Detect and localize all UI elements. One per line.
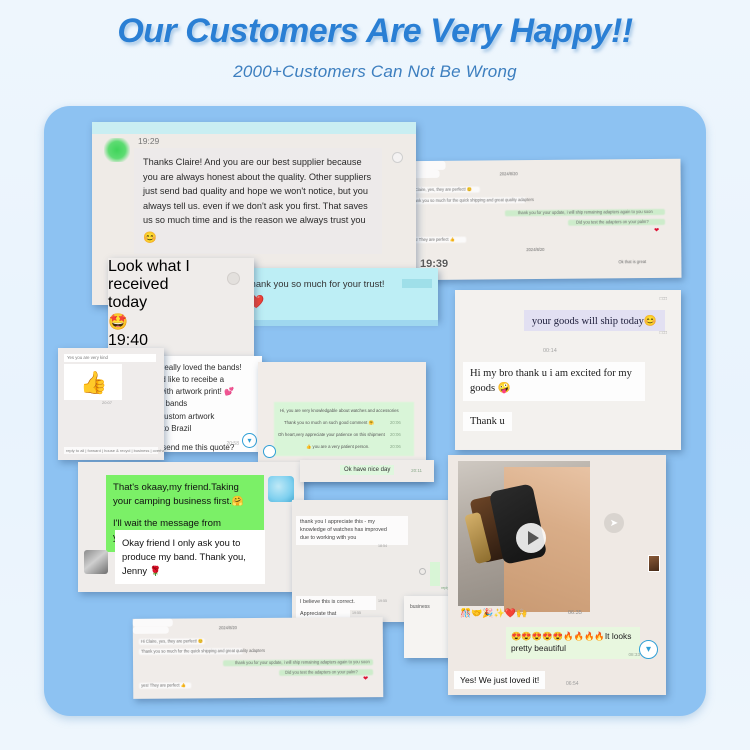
main-chat-bubble: Thanks Claire! And you are our best supp… [134, 148, 382, 254]
dup2-heart-icon: ❤ [363, 675, 368, 682]
watch-line-1: Hi, you are very knowledgable about watc… [280, 408, 399, 413]
green-compliment-line-2: pretty beautiful [511, 643, 566, 653]
duplicate-line-2: Thank you so much for the quick shipping… [410, 197, 534, 203]
duplicate-line-1: Hi Claire, yes, they are perfect! 😊 [410, 187, 472, 194]
chevron-down-badge-icon[interactable]: ▾ [242, 433, 257, 448]
nice-day-card[interactable]: Ok have nice day 20:11 [300, 460, 434, 482]
page-subtitle: 2000+Customers Can Not Be Wrong [0, 62, 750, 82]
duplicate-date-chip: 2024/8/20 [500, 171, 518, 176]
ship-thanks-bubble: Thank u [463, 412, 512, 431]
watch-time-2: 20:06 [390, 432, 401, 437]
circle-icon [419, 568, 426, 575]
green-line-2: camping business first.🤗 [134, 496, 244, 507]
message-status-icon [392, 152, 403, 163]
received-photo-card[interactable]: Look what I received today 🤩 19:40 [108, 258, 254, 356]
scroll-down-icon[interactable]: ▾ [639, 640, 658, 659]
dup2-line-5: yes! They are perfect 👍 [141, 683, 186, 689]
shipping-chat-card[interactable]: □:□ your goods will ship today😊 □:□ 00:1… [455, 290, 681, 450]
business-label: business [410, 604, 430, 610]
white-line-1: Okay friend I only ask you to [122, 537, 240, 548]
loved-it-bubble: Yes! We just loved it! [454, 671, 545, 689]
ship-reply-bubble: Hi my bro thank u i am excited for my go… [463, 362, 645, 401]
dup2-line-3: thank you for your update, i will ship r… [235, 659, 370, 665]
green-compliment-time: 08:33 [629, 652, 641, 657]
green-line-3: I'll wait the message from [113, 518, 221, 529]
dup2-date-chip: 2024/8/20 [219, 625, 237, 630]
thumbs-time: 20:07 [102, 400, 112, 405]
appreciation-time-2: 19:55 [378, 599, 387, 603]
video-time: 06:35 [568, 610, 582, 616]
watch-video-card[interactable]: ➤ 🎊🤝🎉✨❤️🙌 06:35 😍😍😍😍😍🔥🔥🔥🔥It looks pretty… [448, 455, 666, 695]
green-compliment-line-1: 😍😍😍😍😍🔥🔥🔥🔥It looks [511, 631, 631, 641]
green-avatar-icon [104, 138, 130, 162]
thumbs-up-icon: 👍 [80, 370, 107, 396]
dup2-line-2: Thank you so much for the quick shipping… [141, 648, 265, 654]
trust-message-text: thank you so much for your trust! [248, 278, 385, 289]
appreciation-line-3: due to working with you [300, 535, 404, 543]
duplicate-date-chip-2: 2024/8/20 [526, 247, 544, 252]
video-thumbnail[interactable] [458, 461, 590, 606]
green-compliment-bubble: 😍😍😍😍😍🔥🔥🔥🔥It looks pretty beautiful [506, 627, 640, 659]
watch-line-3: Oh heart,very appreciate your patience o… [278, 432, 385, 437]
appreciation-line-2: knowledge of watches has improved [300, 527, 404, 535]
redacted-name-block [402, 279, 432, 288]
ship-center-time: 00:14 [543, 348, 557, 354]
heart-reaction-icon: ❤ [654, 227, 659, 234]
duplicate-line-4: Did you test the adapters on your palm? [576, 219, 649, 225]
watch-line-4: 👍 you are a very patient person. [306, 444, 369, 450]
thumbs-up-card[interactable]: Yes you are very kind 👍 20:07 reply to a… [58, 348, 164, 460]
watch-line-2: Thank you so much on such good comment 🤗 [284, 420, 374, 426]
photo-caption: Look what I received today [108, 258, 212, 312]
chat-topbar [92, 122, 416, 134]
page-root: Our Customers Are Very Happy!! 2000+Cust… [0, 0, 750, 750]
contact-avatar [84, 550, 108, 574]
appreciation-time-3: 19:55 [352, 611, 361, 615]
green-mini-bubble [430, 562, 440, 586]
thumbs-footer-text: reply to all | forward | house & recycl … [66, 448, 164, 453]
dup2-line-4: Did you test the adapters on your palm? [285, 669, 358, 675]
dup2-line-1: Hi Claire, yes, they are perfect! 😊 [141, 638, 203, 644]
duplicate-chat-screenshot-bottom[interactable]: 2024/8/20 Hi Claire, yes, they are perfe… [133, 617, 384, 699]
video-reactions: 🎊🤝🎉✨❤️🙌 [460, 608, 527, 619]
watch-card-badge-icon[interactable] [263, 445, 276, 458]
ship-today-bubble: your goods will ship today😊 [524, 310, 665, 331]
trust-timestamp: 19:39 [420, 258, 448, 270]
cyan-highlight [242, 268, 438, 320]
nice-day-time: 20:11 [411, 468, 422, 473]
photo-reaction-emoji: 🤩 [108, 312, 212, 332]
main-chat-time: 19:29 [138, 136, 159, 146]
green-reply-card[interactable]: That's okaay,my friend.Taking your campi… [78, 462, 304, 592]
thumbnail-preview [648, 555, 660, 572]
loved-it-time: 06:54 [566, 681, 579, 687]
smiley-emoji: 😊 [143, 230, 157, 247]
duplicate-line-6: Ok that is great [618, 259, 646, 264]
thumbs-header-text: Yes you are very kind [64, 354, 156, 362]
page-header: Our Customers Are Very Happy!! 2000+Cust… [0, 0, 750, 82]
nice-day-text: Ok have nice day [340, 465, 394, 475]
sticker-icon [268, 476, 294, 502]
main-chat-text: Thanks Claire! And you are our best supp… [143, 157, 371, 225]
quote-time: 20:58 [226, 441, 239, 447]
white-line-2: produce my band. Thank you, [122, 551, 246, 562]
page-title: Our Customers Are Very Happy!! [0, 12, 750, 51]
ship-time-top: □:□ [660, 296, 667, 302]
ship-time-second: □:□ [660, 330, 667, 336]
watch-time-3: 20:06 [390, 444, 401, 449]
white-bubble-incoming: Okay friend I only ask you to produce my… [115, 530, 265, 584]
play-icon[interactable] [516, 523, 546, 553]
watch-time-1: 20:06 [390, 420, 401, 425]
duplicate-line-5: yes! They are perfect 👍 [410, 237, 455, 243]
white-line-3: Jenny 🌹 [122, 565, 161, 576]
appreciation-time-1: 18:54 [378, 544, 387, 548]
appreciation-bubble: thank you I appreciate this - my knowled… [296, 516, 408, 545]
forward-arrow-icon[interactable]: ➤ [604, 513, 624, 533]
appreciation-line-1: thank you I appreciate this - my [300, 519, 404, 527]
photo-status-icon [227, 272, 240, 285]
